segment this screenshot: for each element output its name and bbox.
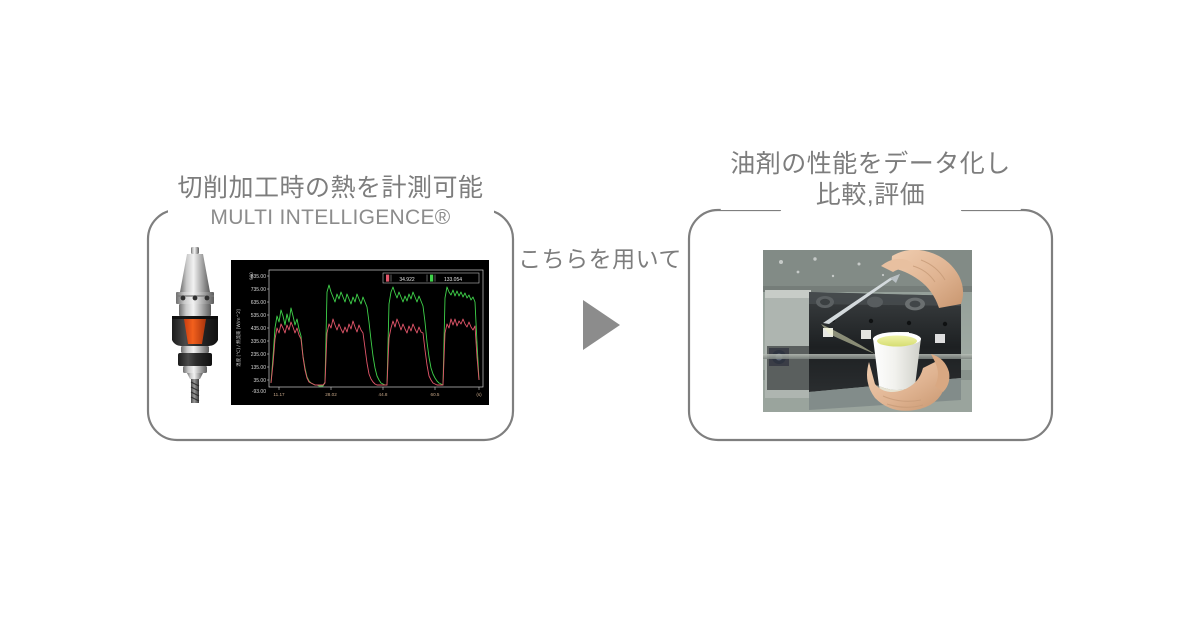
svg-text:335.00: 335.00 xyxy=(251,339,267,345)
right-panel-title-line2: 比較,評価 xyxy=(730,180,1011,211)
heat-measurement-chart: 835.00 735.00 635.00 535.00 435.00 335.0… xyxy=(231,260,489,405)
svg-text:60.5: 60.5 xyxy=(431,392,440,397)
svg-text:135.00: 135.00 xyxy=(251,365,267,371)
cutting-heat-measurement-panel: 切削加工時の熱を計測可能 MULTI INTELLIGENCE® xyxy=(147,209,514,441)
svg-text:-93.00: -93.00 xyxy=(252,389,266,395)
right-panel-title-line1: 油剤の性能をデータ化し xyxy=(730,149,1011,180)
svg-text:435.00: 435.00 xyxy=(251,326,267,332)
diagram-canvas: 切削加工時の熱を計測可能 MULTI INTELLIGENCE® xyxy=(0,0,1200,630)
svg-text:535.00: 535.00 xyxy=(251,313,267,319)
svg-text:35.00: 35.00 xyxy=(253,378,266,384)
svg-text:133.054: 133.054 xyxy=(444,277,462,283)
left-panel-title: 切削加工時の熱を計測可能 MULTI INTELLIGENCE® xyxy=(167,173,493,230)
svg-text:44.8: 44.8 xyxy=(379,392,388,397)
svg-text:(s): (s) xyxy=(476,392,482,397)
tool-holder-icon xyxy=(159,245,231,405)
svg-text:28.02: 28.02 xyxy=(325,392,337,397)
transition-caption: こちらを用いて xyxy=(512,248,688,271)
svg-text:735.00: 735.00 xyxy=(251,287,267,293)
right-panel-title: 油剤の性能をデータ化し 比較,評価 xyxy=(720,149,1021,210)
play-triangle-right-icon xyxy=(576,297,624,353)
oil-performance-evaluation-panel: 油剤の性能をデータ化し 比較,評価 xyxy=(688,209,1053,441)
transition-column: こちらを用いて xyxy=(512,240,688,370)
svg-text:635.00: 635.00 xyxy=(251,300,267,306)
svg-text:34.922: 34.922 xyxy=(399,277,415,283)
svg-text:900: 900 xyxy=(249,272,254,280)
left-panel-subtitle-text: MULTI INTELLIGENCE® xyxy=(177,205,483,231)
svg-text:11.17: 11.17 xyxy=(273,392,285,397)
svg-text:235.00: 235.00 xyxy=(251,352,267,358)
oil-application-photo xyxy=(763,250,972,412)
svg-text:温度 [℃] / 熱流束 [W/m^2]: 温度 [℃] / 熱流束 [W/m^2] xyxy=(235,309,242,367)
left-panel-title-text: 切削加工時の熱を計測可能 xyxy=(177,173,483,204)
